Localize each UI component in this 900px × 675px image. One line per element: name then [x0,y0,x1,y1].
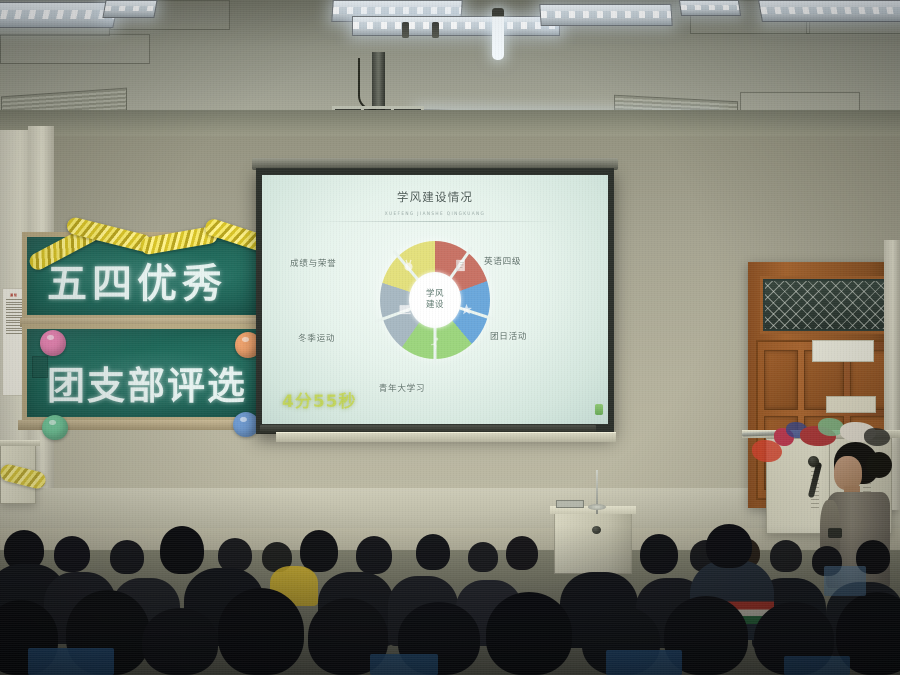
microphone-head [592,526,601,534]
segment-label-left: 冬季运动 [298,332,335,344]
audience-head [770,540,802,572]
door-label-plate [826,396,876,413]
audience-head-front [218,588,304,675]
door-transom-window [760,276,900,334]
donut-center-line-2: 建设 [426,300,444,311]
clutter-item-dark [864,428,890,446]
audience-head [110,540,144,574]
ceiling-light [539,4,673,26]
donut-center-line-1: 学风 [426,289,444,300]
microphone-capsule [808,456,819,467]
audience-head [54,536,90,572]
ceiling [0,0,900,120]
projector-cables [358,58,376,110]
balloon [42,415,68,440]
audience-head [468,542,498,572]
wall-upper-band [0,110,900,136]
projection-screen-surface: 学风建设情况 XUEFENG JIANSHE QINGKUANG [262,175,608,424]
medal-icon [401,258,416,273]
star-icon [459,302,474,317]
slide-title: 学风建设情况 [397,189,473,205]
microphone-base [588,504,606,510]
grille-icon [765,281,895,329]
blackboard-line-1: 五四优秀 [47,251,227,309]
audience-head [640,534,678,574]
wall-poster-title: 通知 [6,293,22,297]
board-notice [32,356,48,378]
audience-head [706,524,752,568]
audience-head [218,538,252,572]
chair-back [824,566,866,596]
presenter-hair-bun [866,452,892,478]
door-panel [764,350,798,410]
laptop[interactable] [556,500,584,508]
projection-screen-frame: 学风建设情况 XUEFENG JIANSHE QINGKUANG [256,168,614,434]
chair-back [28,648,114,675]
screen-corner-badge [595,404,603,415]
ceiling-light [102,0,157,18]
audience-head [356,536,392,574]
audience-head [416,534,450,570]
light-mount [402,22,409,38]
audience-head-front [486,592,572,675]
segment-label-right: 团日活动 [490,330,527,342]
audience-head [160,526,204,574]
slide-subtitle: XUEFENG JIANSHE QINGKUANG [385,211,485,216]
chair-back [606,650,682,675]
stage-ledge [276,432,616,442]
chair-back [370,654,438,675]
ceiling-light [679,0,741,16]
timestamp-overlay: 4分55秒 [282,387,357,412]
audience-head [300,530,338,572]
side-cabinet-top [0,440,40,446]
ceiling-light [758,0,900,22]
ceiling-light [352,16,560,36]
segment-label-top-right: 英语四级 [484,255,521,267]
book-icon [453,258,468,273]
slide-divider [310,221,560,222]
donut-center-label: 学风 建设 [409,272,461,328]
door-sign [812,340,874,362]
run-icon [428,336,443,351]
wall-poster-body [6,299,22,334]
ceiling-tile [0,34,150,64]
chair-back [784,656,850,675]
balloon [40,330,66,356]
light-mount [432,22,439,38]
ceiling-light [0,2,119,28]
audience-head-front [142,608,218,675]
presenter-held-phone [828,528,842,538]
audience-head [506,536,538,570]
donut-chart: 学风 建设 [375,236,495,364]
podium[interactable] [554,512,632,574]
segment-label-bottom: 青年大学习 [379,382,425,394]
classroom-photo: 通知 五四优秀 团支部评选 学风建设情况 XUEFENG JIANSHE QIN… [0,0,900,675]
segment-label-top-left: 成绩与荣誉 [290,257,336,269]
hanging-lamp [492,8,504,60]
blackboard-line-2: 团支部评选 [47,355,247,410]
presenter-face [834,456,862,490]
